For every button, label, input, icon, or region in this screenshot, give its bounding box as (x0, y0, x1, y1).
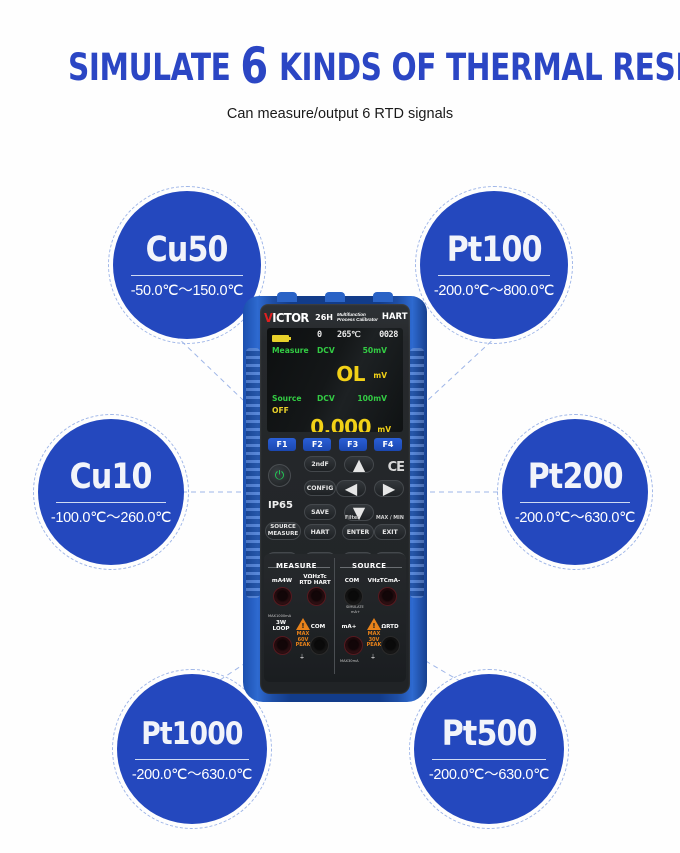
source-section-title: SOURCE (352, 562, 386, 570)
desc-line-2: Process Calibrator (337, 317, 378, 322)
holster-grip-right (410, 348, 424, 598)
badge-divider (520, 502, 631, 503)
hart-button[interactable]: HART (304, 524, 336, 540)
badge-divider (131, 275, 243, 276)
lcd-measure-row: Measure DCV 50mV (267, 346, 403, 358)
fkey-f2[interactable]: F2 (303, 438, 331, 451)
measure-reading: OL mV (267, 358, 403, 388)
badge-cu50[interactable]: Cu50 -50.0℃～150.0℃ (113, 191, 261, 339)
vohz-line-2: RTD HART (299, 580, 330, 586)
page-title: SIMULATE 6 KINDS OF THERMAL RESISTANCE (68, 0, 612, 88)
page-subtitle: Can measure/output 6 RTD signals (0, 88, 680, 122)
loop-max-micro-label: MAX1000mA (268, 614, 291, 618)
terminal-label-vohz: VΩHzTc RTD HART (296, 574, 334, 587)
terminal-label-3w-loop: 3W LOOP (266, 620, 296, 633)
source-range: 100mV (357, 394, 387, 403)
measure-mode: DCV (317, 346, 335, 355)
fkey-f4[interactable]: F4 (374, 438, 402, 451)
badge-divider (56, 502, 167, 503)
source-label: Source (272, 394, 302, 403)
arrow-right-icon[interactable]: ▶ (374, 480, 404, 497)
badge-range-pt100: -200.0℃～800.0℃ (434, 283, 554, 299)
fkey-f3[interactable]: F3 (339, 438, 367, 451)
badge-label-pt200: Pt200 (527, 459, 622, 495)
lcd-source-row: Source DCV 100mV (267, 394, 403, 406)
terminal-divider (334, 558, 335, 674)
loop-line-1: 3W (276, 620, 286, 626)
title-pre: SIMULATE (68, 46, 231, 89)
badge-divider (135, 759, 249, 760)
terminal-label-ortd: ΩRTD (377, 624, 403, 630)
ip-rating-label: IP65 (268, 500, 293, 511)
terminal-jack-ortd[interactable] (381, 636, 400, 655)
ground-symbol-icon: ⏚ (370, 652, 376, 661)
simulate-ma-label: mA+ (351, 610, 360, 614)
status-temperature: 265℃ (337, 330, 360, 340)
badge-range-cu10: -100.0℃～260.0℃ (51, 510, 171, 526)
filter-tag: Filter (345, 516, 359, 521)
simulate-line-1: SIMULATE (346, 605, 364, 609)
badge-range-cu50: -50.0℃～150.0℃ (131, 283, 244, 299)
source-mode: DCV (317, 394, 335, 403)
measure-section-title: MEASURE (276, 562, 317, 570)
measure-unit: mV (373, 371, 387, 380)
terminal-panel: MEASURE SOURCE mA4W VΩHzTc RTD HART MAX1… (264, 554, 406, 682)
save-button[interactable]: SAVE (304, 504, 336, 520)
terminal-label-ma-plus: mA+ (338, 624, 360, 630)
secondf-button[interactable]: 2ndF (304, 456, 336, 472)
enter-button[interactable]: ENTER (342, 524, 374, 540)
badge-label-pt500: Pt500 (441, 716, 536, 752)
ground-symbol-icon: ⏚ (299, 652, 305, 661)
terminal-jack-ma4w[interactable] (273, 587, 292, 606)
badge-divider (432, 759, 546, 760)
device-brandbar: VICTOR 26H Multifunction Process Calibra… (260, 308, 410, 326)
connector-pt100 (428, 335, 498, 400)
arrow-left-icon[interactable]: ◀ (336, 480, 366, 497)
terminal-label-vhz: VHzTCmA- (364, 578, 404, 584)
arrow-up-icon[interactable]: ▲ (344, 456, 374, 473)
terminal-jack-vohz-rtd-hart[interactable] (307, 587, 326, 606)
battery-icon (272, 335, 289, 342)
holster-tab (325, 292, 345, 302)
source-measure-line-2: MEASURE (268, 531, 298, 538)
terminal-label-measure-com: COM (306, 624, 330, 630)
lcd-screen[interactable]: 0 265℃ 0028 Measure DCV 50mV OL mV Sourc… (267, 328, 403, 432)
terminal-label-source-com: COM (340, 578, 364, 584)
brand-logo: VICTOR (264, 310, 309, 325)
ma-max-micro-label: MAX30mA (340, 659, 359, 663)
badge-label-cu10: Cu10 (70, 459, 152, 495)
model-number: 26H (315, 313, 333, 322)
source-value: 0.000 (310, 415, 371, 432)
device-faceplate: VICTOR 26H Multifunction Process Calibra… (260, 304, 410, 694)
badge-pt500[interactable]: Pt500 -200.0℃～630.0℃ (414, 674, 564, 824)
holster-tab (373, 292, 393, 302)
source-reading: OFF 0.000 mV (267, 406, 403, 432)
measure-range: 50mV (363, 346, 387, 355)
badge-range-pt1000: -200.0℃～630.0℃ (132, 767, 252, 783)
title-number: 6 (240, 37, 269, 95)
badge-divider (438, 275, 550, 276)
warn-line-3: PEAK (367, 642, 382, 648)
status-code: 0028 (379, 330, 398, 340)
terminal-jack-measure-com[interactable] (310, 636, 329, 655)
badge-pt100[interactable]: Pt100 -200.0℃～800.0℃ (420, 191, 568, 339)
power-button[interactable]: ⏻ (268, 464, 291, 487)
badge-label-pt100: Pt100 (446, 232, 541, 268)
hart-badge: HART (382, 312, 408, 322)
loop-line-2: LOOP (273, 626, 290, 632)
lcd-status-bar: 0 265℃ 0028 (267, 328, 403, 346)
warn-line-3: PEAK (296, 642, 311, 648)
badge-label-cu50: Cu50 (146, 232, 228, 268)
header: SIMULATE 6 KINDS OF THERMAL RESISTANCE C… (0, 0, 680, 122)
source-measure-button[interactable]: SOURCE MEASURE (265, 522, 301, 540)
holster-grip-left (246, 348, 260, 598)
badge-label-pt1000: Pt1000 (141, 716, 242, 752)
terminal-label-ma4w: mA4W (268, 578, 296, 584)
badge-range-pt500: -200.0℃～630.0℃ (429, 767, 549, 783)
measure-value: OL (336, 362, 365, 386)
fkey-f1[interactable]: F1 (268, 438, 296, 451)
vohz-line-1: VΩHzTc (303, 574, 326, 580)
source-measure-line-1: SOURCE (270, 524, 296, 531)
device-description: Multifunction Process Calibrator (337, 312, 378, 323)
config-button[interactable]: CONFIG (304, 480, 336, 496)
ce-mark-icon: CE (388, 460, 404, 475)
terminal-jack-vhz-tcma[interactable] (378, 587, 397, 606)
holster-tab (277, 292, 297, 302)
simulate-label: SIMULATE (346, 605, 364, 609)
brand-rest: ICTOR (273, 310, 309, 325)
title-post: KINDS OF THERMAL RESISTANCE (279, 46, 680, 89)
terminal-jack-source-com[interactable] (344, 587, 363, 606)
badge-pt200[interactable]: Pt200 -200.0℃～630.0℃ (502, 419, 648, 565)
function-key-row: F1 F2 F3 F4 (268, 438, 402, 451)
desc-line-1: Multifunction (337, 312, 366, 317)
source-unit: mV (377, 425, 391, 432)
badge-range-pt200: -200.0℃～630.0℃ (515, 510, 635, 526)
measure-label: Measure (272, 346, 309, 355)
max-min-tag: MAX / MIN (376, 516, 404, 521)
exit-button[interactable]: EXIT (374, 524, 406, 540)
source-state: OFF (272, 406, 289, 415)
process-calibrator-device: VICTOR 26H Multifunction Process Calibra… (243, 296, 427, 702)
status-zero: 0 (317, 330, 322, 340)
connector-cu50 (175, 335, 243, 400)
badge-cu10[interactable]: Cu10 -100.0℃～260.0℃ (38, 419, 184, 565)
